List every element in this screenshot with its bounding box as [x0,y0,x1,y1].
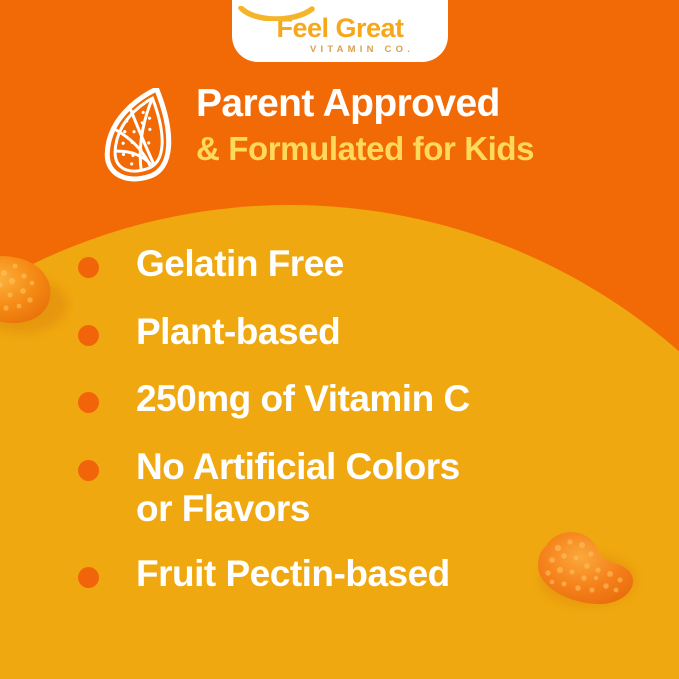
bullet-dot-icon [78,325,99,346]
list-item: Gelatin Free [78,243,638,286]
orange-slice-icon [96,88,180,184]
bullet-dot-icon [78,567,99,588]
list-item: Plant-based [78,311,638,354]
headline-title: Parent Approved [196,84,534,125]
brand-name: Feel Great [276,15,403,42]
bullet-dot-icon [78,460,99,481]
gummy-candy-icon [528,518,646,614]
feature-label: 250mg of Vitamin C [136,378,470,421]
feature-label: Plant-based [136,311,340,354]
bullet-dot-icon [78,392,99,413]
bullet-dot-icon [78,257,99,278]
feature-label: Gelatin Free [136,243,344,286]
brand-logo-panel: Feel Great VITAMIN CO. [232,0,448,62]
feature-label: Fruit Pectin-based [136,553,450,596]
gummy-candy-icon [0,245,74,341]
feature-label: No Artificial Colors or Flavors [136,446,460,531]
headline-subtitle: & Formulated for Kids [196,131,534,167]
brand-tagline: VITAMIN CO. [310,45,414,55]
list-item: 250mg of Vitamin C [78,378,638,421]
headline-block: Parent Approved & Formulated for Kids [96,84,636,184]
headline-text: Parent Approved & Formulated for Kids [196,84,534,167]
product-feature-graphic: Feel Great VITAMIN CO. [0,0,679,679]
